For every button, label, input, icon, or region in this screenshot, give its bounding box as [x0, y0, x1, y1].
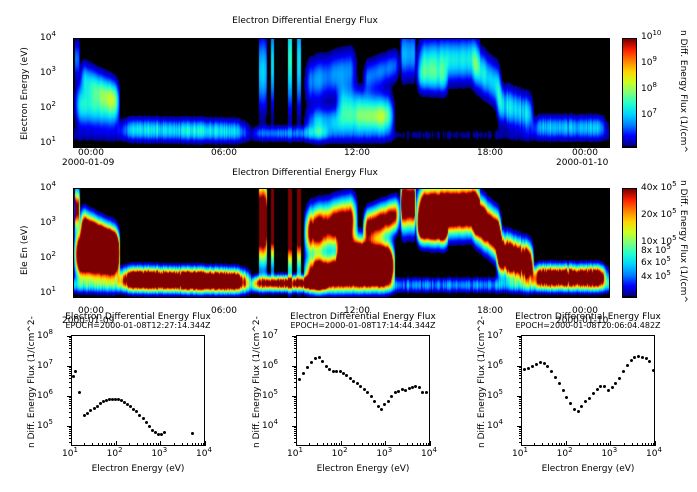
xtick-minor: [559, 443, 560, 446]
data-point: [387, 400, 390, 403]
xtick-mark: [205, 441, 206, 446]
ytick-minor: [294, 339, 297, 340]
xaxis-date-right: 2000-01-10: [556, 158, 608, 168]
xtick-minor: [137, 443, 138, 446]
spectrum-ylabel: n Diff. Energy Flux (1/(cm^2-: [252, 316, 262, 448]
xtick-minor: [174, 443, 175, 446]
ytick-minor: [294, 399, 297, 400]
xtick-label: 103: [601, 449, 617, 459]
ytick-minor: [294, 357, 297, 358]
xtick-minor: [150, 443, 151, 446]
ytick-minor: [69, 348, 72, 349]
ytick-minor: [519, 397, 522, 398]
ytick-minor: [69, 343, 72, 344]
ytick-minor: [294, 371, 297, 372]
ytick-minor: [519, 371, 522, 372]
ytick-minor: [294, 412, 297, 413]
ytick-minor: [519, 412, 522, 413]
data-point: [380, 408, 383, 411]
ytick-label: 104: [487, 421, 503, 431]
xtick-mark: [116, 441, 117, 446]
data-point: [93, 407, 96, 410]
xtick-minor: [182, 443, 183, 446]
xtick-minor: [564, 443, 565, 446]
ytick-minor: [519, 408, 522, 409]
xtick-minor: [407, 443, 408, 446]
xtick-label: 00:00: [572, 148, 598, 158]
ytick-minor: [519, 417, 522, 418]
xtick-minor: [111, 443, 112, 446]
xtick-minor: [84, 443, 85, 446]
xtick-minor: [147, 443, 148, 446]
ytick-minor: [294, 382, 297, 383]
xtick-minor: [195, 443, 196, 446]
data-point: [558, 382, 561, 385]
data-point: [397, 390, 400, 393]
xtick-minor: [593, 443, 594, 446]
xtick-mark: [341, 441, 342, 446]
xtick-minor: [153, 443, 154, 446]
data-point: [543, 362, 546, 365]
xtick-label: 104: [196, 449, 212, 459]
xtick-minor: [158, 443, 159, 446]
ytick-minor: [294, 401, 297, 402]
xtick-minor: [420, 443, 421, 446]
data-point: [145, 421, 148, 424]
ytick-minor: [294, 352, 297, 353]
xtick-minor: [381, 443, 382, 446]
spectrum-ylabel: n Diff. Energy Flux (1/(cm^2-: [27, 316, 37, 448]
xtick-minor: [587, 443, 588, 446]
panel-top-colorbar: [622, 38, 637, 148]
spectrum-ylabel: n Diff. Energy Flux (1/(cm^2-: [477, 316, 487, 448]
panel-mid-spectrogram: [73, 188, 610, 298]
spectrum-xlabel: Electron Energy (eV): [274, 464, 452, 474]
ytick-minor: [519, 352, 522, 353]
xtick-minor: [106, 443, 107, 446]
ytick-minor: [69, 371, 72, 372]
data-point: [72, 375, 75, 378]
ytick-minor: [519, 433, 522, 434]
data-point: [163, 431, 166, 434]
xtick-mark: [430, 441, 431, 446]
xtick-label: 00:00: [78, 148, 104, 158]
xtick-minor: [378, 443, 379, 446]
ytick-minor: [519, 369, 522, 370]
ytick-minor: [69, 403, 72, 404]
xtick-label: 102: [107, 449, 123, 459]
data-point: [531, 365, 534, 368]
ytick-minor: [519, 438, 522, 439]
data-point: [421, 391, 424, 394]
xtick-minor: [323, 443, 324, 446]
xtick-minor: [192, 443, 193, 446]
data-point: [298, 378, 301, 381]
ytick-minor: [519, 382, 522, 383]
spectrum-xlabel: Electron Energy (eV): [49, 464, 227, 474]
xtick-label: 101: [62, 449, 78, 459]
data-point: [335, 370, 338, 373]
xtick-minor: [624, 443, 625, 446]
xtick-minor: [334, 443, 335, 446]
xtick-minor: [561, 443, 562, 446]
data-point: [370, 395, 373, 398]
ytick-minor: [69, 438, 72, 439]
ytick-minor: [69, 417, 72, 418]
xtick-label: 102: [557, 449, 573, 459]
xtick-label: 18:00: [477, 148, 503, 158]
ytick-minor: [294, 417, 297, 418]
ytick-minor: [69, 433, 72, 434]
ytick-minor: [69, 352, 72, 353]
ytick-minor: [294, 345, 297, 346]
ytick-minor: [519, 399, 522, 400]
ytick-minor: [69, 367, 72, 368]
xtick-mark: [296, 441, 297, 446]
xtick-minor: [556, 443, 557, 446]
ytick-minor: [69, 373, 72, 374]
data-point: [535, 363, 538, 366]
xtick-label: 104: [646, 449, 662, 459]
ytick-minor: [69, 399, 72, 400]
ytick-minor: [69, 408, 72, 409]
xtick-mark: [566, 441, 567, 446]
data-point: [527, 367, 530, 370]
xtick-label: 104: [421, 449, 437, 459]
xtick-mark: [71, 441, 72, 446]
ytick-minor: [519, 339, 522, 340]
data-point: [302, 372, 305, 375]
ytick-minor: [519, 341, 522, 342]
ytick-label: 105: [487, 391, 503, 401]
ytick-minor: [519, 337, 522, 338]
xtick-minor: [645, 443, 646, 446]
ytick-minor: [69, 339, 72, 340]
ytick-minor: [294, 337, 297, 338]
ytick-minor: [69, 431, 72, 432]
ytick-minor: [294, 403, 297, 404]
ytick-minor: [519, 403, 522, 404]
ytick-minor: [519, 435, 522, 436]
xtick-label: 103: [151, 449, 167, 459]
xtick-minor: [114, 443, 115, 446]
data-point: [318, 356, 321, 359]
xtick-minor: [412, 443, 413, 446]
xtick-label: 06:00: [211, 148, 237, 158]
xtick-minor: [98, 443, 99, 446]
xtick-minor: [603, 443, 604, 446]
data-point: [592, 392, 595, 395]
ytick-minor: [294, 435, 297, 436]
ytick-minor: [519, 427, 522, 428]
ytick-label: 108: [37, 331, 53, 341]
ytick-label: 105: [37, 421, 53, 431]
ytick-minor: [294, 438, 297, 439]
data-point: [96, 405, 99, 408]
ytick-minor: [294, 431, 297, 432]
ytick-minor: [519, 378, 522, 379]
xtick-minor: [632, 443, 633, 446]
ytick-minor: [69, 429, 72, 430]
ytick-minor: [294, 367, 297, 368]
ytick-minor: [294, 427, 297, 428]
xtick-minor: [542, 443, 543, 446]
ytick-minor: [69, 369, 72, 370]
ytick-minor: [294, 429, 297, 430]
xtick-minor: [129, 443, 130, 446]
xtick-minor: [203, 443, 204, 446]
ytick-label: 107: [487, 331, 503, 341]
data-point: [148, 425, 151, 428]
ytick-minor: [294, 408, 297, 409]
ytick-minor: [519, 367, 522, 368]
xtick-minor: [327, 443, 328, 446]
ytick-minor: [294, 375, 297, 376]
data-point: [603, 385, 606, 388]
ytick-label: 104: [262, 421, 278, 431]
xtick-minor: [187, 443, 188, 446]
ytick-label: 106: [37, 391, 53, 401]
ytick-minor: [294, 433, 297, 434]
panel-top-title: Electron Differential Energy Flux: [0, 16, 610, 26]
ytick-minor: [519, 405, 522, 406]
ytick-minor: [69, 435, 72, 436]
data-point: [596, 388, 599, 391]
data-point: [425, 391, 428, 394]
ytick-minor: [519, 357, 522, 358]
xtick-minor: [368, 443, 369, 446]
data-point: [626, 364, 629, 367]
xtick-minor: [143, 443, 144, 446]
data-point: [607, 389, 610, 392]
xtick-minor: [648, 443, 649, 446]
panel-mid-title: Electron Differential Energy Flux: [0, 168, 610, 178]
xtick-minor: [428, 443, 429, 446]
ytick-minor: [69, 405, 72, 406]
data-point: [78, 391, 81, 394]
xtick-minor: [109, 443, 110, 446]
ytick-minor: [519, 345, 522, 346]
ytick-minor: [294, 369, 297, 370]
ytick-minor: [519, 387, 522, 388]
ytick-minor: [69, 387, 72, 388]
data-point: [377, 405, 380, 408]
xtick-minor: [651, 443, 652, 446]
panel-top-spectrogram: [73, 38, 610, 148]
panel-mid-ylabel: Ele En (eV): [20, 225, 30, 275]
xtick-minor: [608, 443, 609, 446]
ytick-minor: [294, 343, 297, 344]
ytick-minor: [294, 373, 297, 374]
ytick-minor: [294, 378, 297, 379]
xtick-minor: [102, 443, 103, 446]
ytick-minor: [69, 427, 72, 428]
xtick-mark: [385, 441, 386, 446]
data-point: [652, 369, 655, 372]
xtick-minor: [383, 443, 384, 446]
ytick-minor: [519, 375, 522, 376]
ytick-label: 106: [487, 361, 503, 371]
xtick-minor: [600, 443, 601, 446]
ytick-minor: [69, 378, 72, 379]
ytick-minor: [69, 382, 72, 383]
xtick-label: 103: [376, 449, 392, 459]
xtick-minor: [336, 443, 337, 446]
xtick-minor: [362, 443, 363, 446]
xtick-minor: [339, 443, 340, 446]
xtick-minor: [309, 443, 310, 446]
xtick-minor: [399, 443, 400, 446]
data-point: [142, 417, 145, 420]
ytick-minor: [69, 357, 72, 358]
xtick-minor: [198, 443, 199, 446]
ytick-minor: [294, 397, 297, 398]
xtick-minor: [331, 443, 332, 446]
panel-mid-colorbar: [622, 188, 637, 298]
ytick-minor: [519, 343, 522, 344]
ytick-minor: [519, 348, 522, 349]
xtick-minor: [156, 443, 157, 446]
data-point: [373, 400, 376, 403]
data-point: [562, 389, 565, 392]
data-point: [611, 386, 614, 389]
xtick-minor: [548, 443, 549, 446]
data-point: [404, 389, 407, 392]
xtick-minor: [201, 443, 202, 446]
data-point: [74, 370, 77, 373]
xtick-minor: [372, 443, 373, 446]
xtick-minor: [92, 443, 93, 446]
xaxis-date-left: 2000-01-09: [62, 158, 114, 168]
panel-top-ylabel: Electron Energy (eV): [20, 47, 30, 140]
data-point: [577, 410, 580, 413]
data-point: [622, 370, 625, 373]
xtick-minor: [354, 443, 355, 446]
xtick-minor: [423, 443, 424, 446]
spectrum-subtitle: EPOCH=2000-01-08T20:06:04.482Z: [459, 321, 697, 330]
ytick-minor: [519, 429, 522, 430]
xtick-minor: [642, 443, 643, 446]
xtick-label: 101: [512, 449, 528, 459]
xtick-minor: [552, 443, 553, 446]
xtick-minor: [606, 443, 607, 446]
xtick-minor: [375, 443, 376, 446]
spectrum-xlabel: Electron Energy (eV): [499, 464, 677, 474]
xtick-mark: [521, 441, 522, 446]
xtick-minor: [597, 443, 598, 446]
panel-mid-colorbar-label: n Diff. Energy Flux (1/(cm^: [678, 180, 688, 303]
ytick-minor: [519, 373, 522, 374]
xtick-minor: [637, 443, 638, 446]
ytick-label: 105: [262, 391, 278, 401]
panel-top-colorbar-label: n Diff. Energy Flux (1/(cm^: [678, 30, 688, 153]
ytick-minor: [294, 387, 297, 388]
xtick-minor: [426, 443, 427, 446]
data-point: [630, 359, 633, 362]
ytick-minor: [294, 348, 297, 349]
ytick-minor: [294, 341, 297, 342]
ytick-minor: [69, 397, 72, 398]
xtick-mark: [655, 441, 656, 446]
xtick-minor: [534, 443, 535, 446]
xtick-mark: [610, 441, 611, 446]
ytick-minor: [69, 337, 72, 338]
ytick-label: 106: [262, 361, 278, 371]
ytick-minor: [69, 401, 72, 402]
xtick-minor: [417, 443, 418, 446]
ytick-minor: [69, 412, 72, 413]
ytick-minor: [519, 401, 522, 402]
spectrum-plot-area: [521, 335, 655, 446]
spectrum-plot-area: [71, 335, 205, 446]
xtick-label: 101: [287, 449, 303, 459]
xtick-minor: [317, 443, 318, 446]
ytick-minor: [294, 405, 297, 406]
ytick-minor: [69, 345, 72, 346]
ytick-label: 107: [262, 331, 278, 341]
data-point: [588, 397, 591, 400]
xtick-label: 102: [332, 449, 348, 459]
xtick-minor: [653, 443, 654, 446]
ytick-label: 107: [37, 361, 53, 371]
ytick-minor: [69, 341, 72, 342]
xtick-mark: [160, 441, 161, 446]
ytick-minor: [519, 431, 522, 432]
xtick-label: 12:00: [344, 148, 370, 158]
xtick-minor: [579, 443, 580, 446]
